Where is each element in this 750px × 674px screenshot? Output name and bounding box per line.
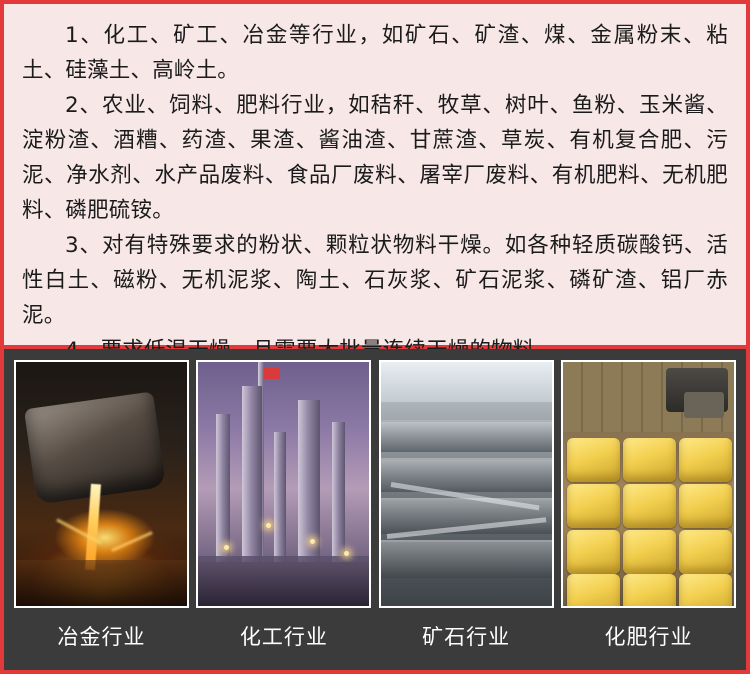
bag-row bbox=[567, 530, 732, 574]
bag-row bbox=[567, 438, 732, 482]
fertilizer-bag bbox=[679, 438, 732, 482]
fertilizer-bag bbox=[567, 574, 620, 608]
caption-ore: 矿石行业 bbox=[379, 608, 554, 663]
column-shape bbox=[242, 386, 262, 564]
gallery-card-ore: 矿石行业 bbox=[379, 360, 554, 663]
fertilizer-bag bbox=[567, 530, 620, 574]
spark-shape bbox=[111, 531, 152, 552]
page-root: 1、化工、矿工、冶金等行业，如矿石、矿渣、煤、金属粉末、粘土、硅藻土、高岭土。 … bbox=[0, 0, 750, 674]
fertilizer-bag bbox=[623, 530, 676, 574]
caption-fertilizer: 化肥行业 bbox=[561, 608, 736, 663]
fertilizer-bag bbox=[567, 484, 620, 528]
image-gallery: 冶金行业 化工行业 bbox=[0, 349, 750, 674]
fertilizer-photo bbox=[561, 360, 736, 608]
caption-metallurgy: 冶金行业 bbox=[14, 608, 189, 663]
sky-shape bbox=[381, 362, 552, 402]
gallery-card-chemical: 化工行业 bbox=[196, 360, 371, 663]
truck-cab-shape bbox=[684, 392, 724, 418]
fertilizer-bag bbox=[679, 574, 732, 608]
mine-bench-shape bbox=[379, 540, 554, 578]
column-shape bbox=[274, 432, 286, 564]
column-shape bbox=[216, 414, 230, 564]
text-panel: 1、化工、矿工、冶金等行业，如矿石、矿渣、煤、金属粉末、粘土、硅藻土、高岭土。 … bbox=[0, 0, 750, 349]
ground-shape bbox=[198, 562, 369, 606]
mine-bench-shape bbox=[379, 420, 554, 452]
gallery-card-fertilizer: 化肥行业 bbox=[561, 360, 736, 663]
paragraph-2: 2、农业、饲料、肥料行业，如秸秆、牧草、树叶、鱼粉、玉米酱、淀粉渣、酒糟、药渣、… bbox=[22, 88, 728, 228]
foundry-floor-shape bbox=[16, 560, 187, 606]
fertilizer-bag bbox=[623, 574, 676, 608]
bag-row bbox=[567, 574, 732, 608]
column-shape bbox=[298, 400, 320, 564]
gallery-card-metallurgy: 冶金行业 bbox=[14, 360, 189, 663]
caption-chemical: 化工行业 bbox=[196, 608, 371, 663]
fertilizer-bag bbox=[567, 438, 620, 482]
fertilizer-bag bbox=[623, 484, 676, 528]
bag-row bbox=[567, 484, 732, 528]
paragraph-1: 1、化工、矿工、冶金等行业，如矿石、矿渣、煤、金属粉末、粘土、硅藻土、高岭土。 bbox=[22, 18, 728, 88]
fertilizer-bag bbox=[679, 530, 732, 574]
metallurgy-photo bbox=[14, 360, 189, 608]
column-shape bbox=[332, 422, 345, 564]
lamp-shape bbox=[266, 523, 271, 528]
fertilizer-bag bbox=[623, 438, 676, 482]
fertilizer-bag bbox=[679, 484, 732, 528]
flag-shape bbox=[264, 368, 280, 379]
chemical-photo bbox=[196, 360, 371, 608]
paragraph-3: 3、对有特殊要求的粉状、颗粒状物料干燥。如各种轻质碳酸钙、活性白土、磁粉、无机泥… bbox=[22, 228, 728, 333]
ore-photo bbox=[379, 360, 554, 608]
